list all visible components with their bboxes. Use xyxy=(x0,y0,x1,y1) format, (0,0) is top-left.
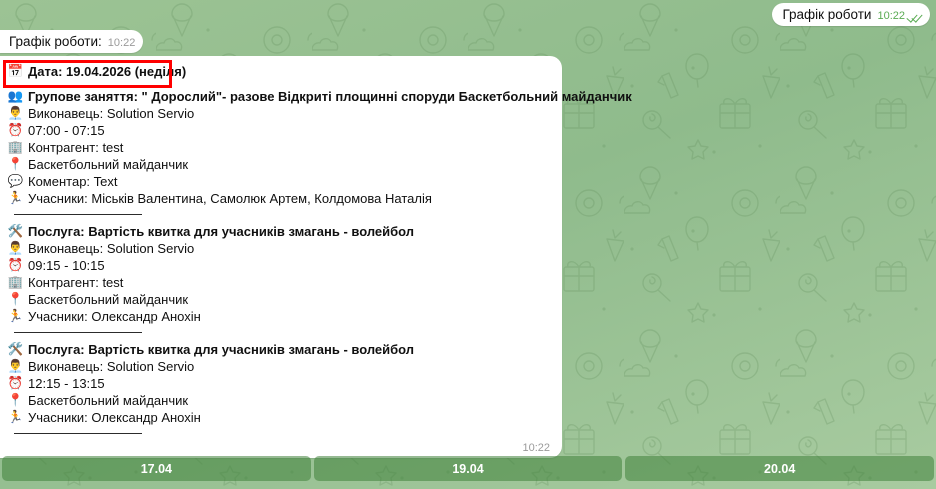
schedule-line-text: Коментар: Text xyxy=(28,173,117,190)
schedule-line: 📍Баскетбольний майданчик xyxy=(6,156,552,173)
keyboard-button-19-04[interactable]: 19.04 xyxy=(314,456,623,481)
schedule-line-text: Групове заняття: " Дорослий"- разове Від… xyxy=(28,88,632,105)
building-icon: 🏢 xyxy=(8,274,23,290)
schedule-block: 🛠️Послуга: Вартість квитка для учасників… xyxy=(6,223,552,325)
schedule-block: 👥Групове заняття: " Дорослий"- разове Ві… xyxy=(6,88,552,207)
alarm-clock-icon: ⏰ xyxy=(8,257,23,273)
outgoing-message-meta: 10:22 xyxy=(877,10,922,22)
schedule-line: 💬Коментар: Text xyxy=(6,173,552,190)
office-worker-icon: 👨‍💼 xyxy=(8,240,23,256)
location-pin-icon: 📍 xyxy=(8,156,23,172)
schedule-line-text: Виконавець: Solution Servio xyxy=(28,240,194,257)
keyboard-button-20-04[interactable]: 20.04 xyxy=(625,456,934,481)
schedule-line: 👨‍💼Виконавець: Solution Servio xyxy=(6,105,552,122)
schedule-line-text: Учасники: Міськів Валентина, Самолюк Арт… xyxy=(28,190,432,207)
schedule-line: 📍Баскетбольний майданчик xyxy=(6,291,552,308)
speech-balloon-icon: 💬 xyxy=(8,173,23,189)
runner-icon: 🏃 xyxy=(8,190,23,206)
schedule-line: 🏢Контрагент: test xyxy=(6,274,552,291)
telegram-chat-view: Графік роботи 10:22 Графік роботи: 10:22… xyxy=(0,0,936,489)
outgoing-message-bubble[interactable]: Графік роботи 10:22 xyxy=(772,3,930,26)
building-icon: 🏢 xyxy=(8,139,23,155)
double-check-icon xyxy=(907,11,922,22)
schedule-line: ⏰07:00 - 07:15 xyxy=(6,122,552,139)
schedule-line: 🏃Учасники: Олександр Анохін xyxy=(6,308,552,325)
runner-icon: 🏃 xyxy=(8,409,23,425)
schedule-line: 🏃Учасники: Міськів Валентина, Самолюк Ар… xyxy=(6,190,552,207)
schedule-line-text: Послуга: Вартість квитка для учасників з… xyxy=(28,341,414,358)
schedule-line-text: Контрагент: test xyxy=(28,139,123,156)
schedule-blocks: 👥Групове заняття: " Дорослий"- разове Ві… xyxy=(6,88,552,434)
incoming-prompt-time: 10:22 xyxy=(108,37,136,49)
schedule-block: 🛠️Послуга: Вартість квитка для учасників… xyxy=(6,341,552,426)
schedule-message-bubble[interactable]: 📅 Дата: 19.04.2026 (неділя) 👥Групове зан… xyxy=(0,56,562,458)
tools-icon: 🛠️ xyxy=(8,223,23,239)
outgoing-message-text: Графік роботи xyxy=(782,7,871,22)
office-worker-icon: 👨‍💼 xyxy=(8,358,23,374)
schedule-line-text: Баскетбольний майданчик xyxy=(28,156,188,173)
schedule-line-text: Баскетбольний майданчик xyxy=(28,392,188,409)
schedule-line-text: Послуга: Вартість квитка для учасників з… xyxy=(28,223,414,240)
schedule-line: 🛠️Послуга: Вартість квитка для учасників… xyxy=(6,223,552,240)
tools-icon: 🛠️ xyxy=(8,341,23,357)
schedule-line: 👥Групове заняття: " Дорослий"- разове Ві… xyxy=(6,88,552,105)
schedule-line: 🏢Контрагент: test xyxy=(6,139,552,156)
schedule-line-text: Учасники: Олександр Анохін xyxy=(28,308,201,325)
schedule-line: 🏃Учасники: Олександр Анохін xyxy=(6,409,552,426)
schedule-message-time: 10:22 xyxy=(6,442,552,454)
schedule-line-text: Виконавець: Solution Servio xyxy=(28,358,194,375)
incoming-prompt-text: Графік роботи: xyxy=(9,34,102,49)
schedule-line-text: Учасники: Олександр Анохін xyxy=(28,409,201,426)
schedule-line: 👨‍💼Виконавець: Solution Servio xyxy=(6,358,552,375)
schedule-line-text: Виконавець: Solution Servio xyxy=(28,105,194,122)
alarm-clock-icon: ⏰ xyxy=(8,122,23,138)
keyboard-button-17-04[interactable]: 17.04 xyxy=(2,456,311,481)
message-list: Графік роботи 10:22 Графік роботи: 10:22… xyxy=(0,0,936,489)
schedule-line: 👨‍💼Виконавець: Solution Servio xyxy=(6,240,552,257)
schedule-line-text: Баскетбольний майданчик xyxy=(28,291,188,308)
schedule-line-text: Контрагент: test xyxy=(28,274,123,291)
calendar-icon: 📅 xyxy=(8,63,23,79)
schedule-line: 📍Баскетбольний майданчик xyxy=(6,392,552,409)
office-worker-icon: 👨‍💼 xyxy=(8,105,23,121)
location-pin-icon: 📍 xyxy=(8,392,23,408)
schedule-line-text: 07:00 - 07:15 xyxy=(28,122,105,139)
runner-icon: 🏃 xyxy=(8,308,23,324)
schedule-line: 🛠️Послуга: Вартість квитка для учасників… xyxy=(6,341,552,358)
schedule-line: ⏰12:15 - 13:15 xyxy=(6,375,552,392)
block-separator xyxy=(14,433,142,434)
alarm-clock-icon: ⏰ xyxy=(8,375,23,391)
schedule-line-text: 09:15 - 10:15 xyxy=(28,257,105,274)
schedule-date-line: 📅 Дата: 19.04.2026 (неділя) xyxy=(6,63,552,80)
schedule-date-text: Дата: 19.04.2026 (неділя) xyxy=(28,63,186,80)
people-icon: 👥 xyxy=(8,88,23,104)
block-separator xyxy=(14,332,142,333)
block-separator xyxy=(14,214,142,215)
incoming-prompt-bubble[interactable]: Графік роботи: 10:22 xyxy=(0,30,143,53)
reply-keyboard: 17.0419.0420.04 xyxy=(0,456,936,489)
schedule-line: ⏰09:15 - 10:15 xyxy=(6,257,552,274)
schedule-line-text: 12:15 - 13:15 xyxy=(28,375,105,392)
outgoing-message-time: 10:22 xyxy=(877,10,905,22)
location-pin-icon: 📍 xyxy=(8,291,23,307)
